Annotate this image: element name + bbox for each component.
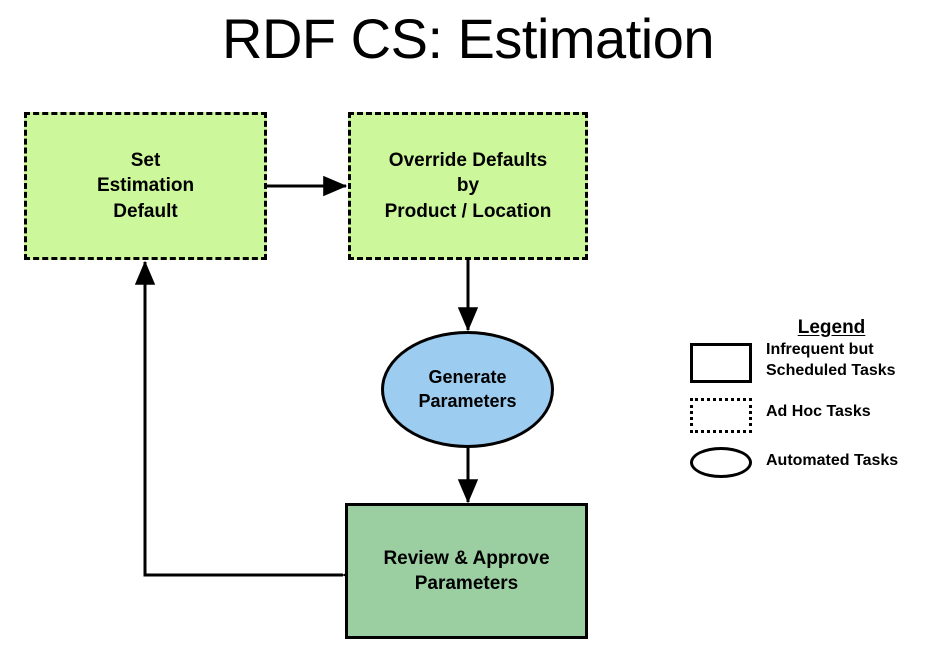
node-label: Override DefaultsbyProduct / Location	[351, 148, 585, 223]
legend-item-label: Automated Tasks	[766, 451, 926, 472]
legend-item-label: Infrequent butScheduled Tasks	[766, 340, 926, 382]
node-review-approve-parameters[interactable]: Review & ApproveParameters	[345, 503, 588, 639]
node-label: SetEstimationDefault	[27, 148, 264, 223]
node-set-estimation-default[interactable]: SetEstimationDefault	[24, 112, 267, 260]
legend-item-infrequent-scheduled: Infrequent butScheduled Tasks	[684, 340, 928, 386]
node-label: Review & ApproveParameters	[348, 546, 585, 596]
legend-solid-rectangle-icon	[690, 343, 752, 383]
legend-ellipse-icon	[690, 447, 752, 478]
legend-item-ad-hoc: Ad Hoc Tasks	[684, 394, 928, 440]
legend-dotted-rectangle-icon	[690, 398, 752, 433]
node-override-defaults[interactable]: Override DefaultsbyProduct / Location	[348, 112, 588, 260]
edge-review-feedback	[145, 262, 343, 575]
legend: Legend Infrequent butScheduled Tasks Ad …	[684, 312, 928, 492]
legend-item-automated: Automated Tasks	[684, 443, 928, 489]
diagram-canvas: RDF CS: Estimation SetEstimationDefault …	[0, 0, 936, 660]
legend-item-label: Ad Hoc Tasks	[766, 402, 926, 423]
page-title: RDF CS: Estimation	[0, 8, 936, 70]
node-label: GenerateParameters	[384, 366, 551, 414]
node-generate-parameters[interactable]: GenerateParameters	[381, 331, 554, 448]
legend-title: Legend	[744, 317, 919, 339]
